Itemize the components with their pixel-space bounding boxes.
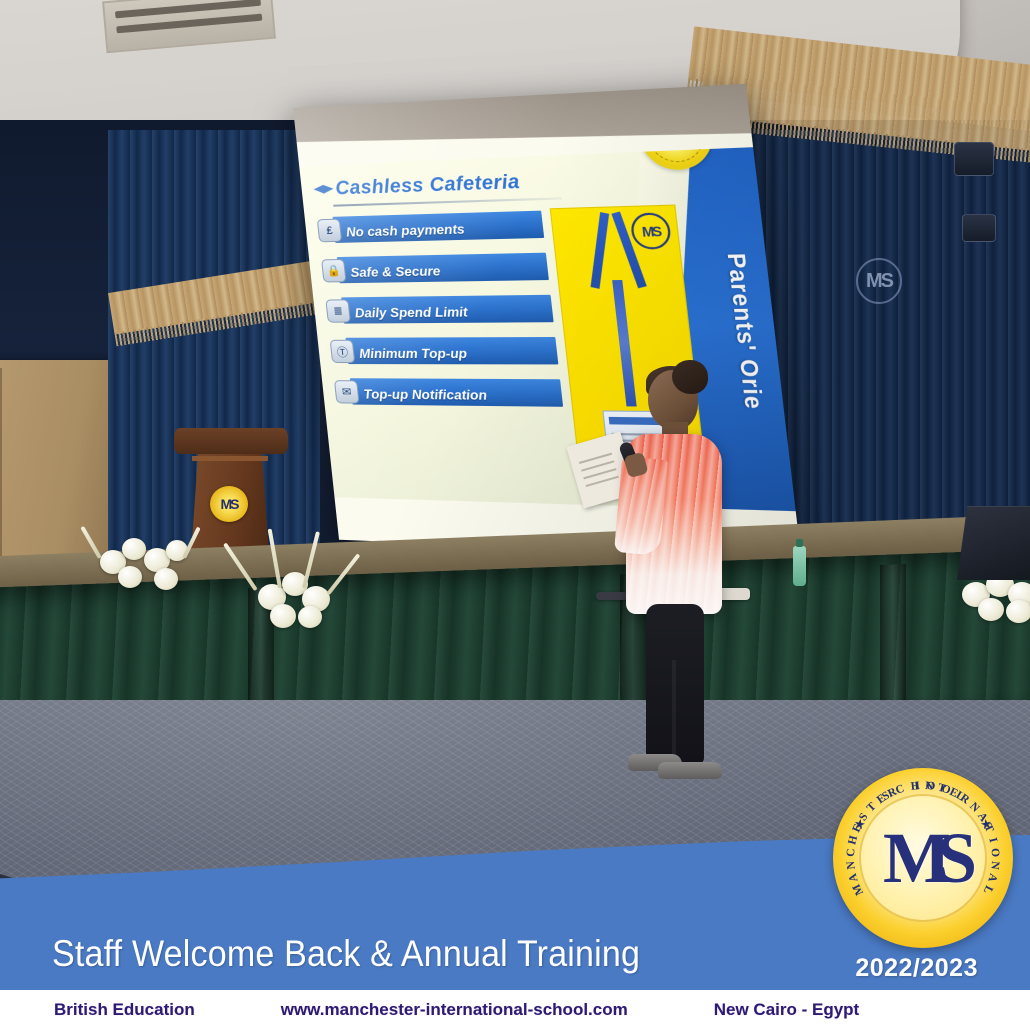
podium-trim xyxy=(192,456,268,461)
bullet-label: Minimum Top-up xyxy=(358,346,467,362)
stage-spotlight-icon xyxy=(954,142,994,176)
no-cash-icon: ₤ xyxy=(317,219,342,243)
flower-arrangement xyxy=(240,548,360,648)
bullet-label: No cash payments xyxy=(345,221,465,239)
notification-icon: ✉ xyxy=(334,380,360,403)
skirt-fold xyxy=(880,564,906,715)
lanyard-strap-left xyxy=(591,212,610,289)
slide-bullet-item: Ⓣ Minimum Top-up xyxy=(327,337,559,370)
footer-website-link[interactable]: www.manchester-international-school.com xyxy=(281,1000,628,1020)
dried-frond xyxy=(326,553,360,595)
presenter-hair-bun xyxy=(672,360,708,394)
water-bottle xyxy=(793,546,806,586)
slide-bullet-item: ✉ Top-up Notification xyxy=(332,378,564,412)
bullet-label: Top-up Notification xyxy=(363,386,488,402)
footer-location-label: New Cairo - Egypt xyxy=(714,1000,859,1020)
presenter xyxy=(620,366,730,786)
school-logo: MANCHESTERINTERNATIONALSCHOOL★★ MS xyxy=(833,768,1013,948)
slide-photo-seal-icon: MS xyxy=(629,212,672,249)
slide-bullet-list: ₤ No cash payments 🔒 Safe & Secure ≣ Dai… xyxy=(315,211,565,422)
bullet-label: Daily Spend Limit xyxy=(354,304,468,320)
wall-crest-icon: MS xyxy=(856,258,902,304)
stage-spotlight-icon xyxy=(962,214,996,242)
footer-left-label: British Education xyxy=(54,1000,195,1020)
school-event-photo: MS Parents' Orie MIS Cashless Cafeteria … xyxy=(0,0,1030,1030)
bullet-label: Safe & Secure xyxy=(350,263,441,280)
podium-top xyxy=(174,428,288,454)
slide-title: Cashless Cafeteria xyxy=(334,171,521,200)
slide-bullet-item: ≣ Daily Spend Limit xyxy=(323,295,554,329)
presenter-shoe xyxy=(658,762,722,779)
event-title: Staff Welcome Back & Annual Training xyxy=(52,933,640,975)
presenter-trousers xyxy=(646,604,704,764)
slide-bullet-item: ₤ No cash payments xyxy=(315,211,545,249)
top-up-icon: Ⓣ xyxy=(330,340,356,363)
spend-limit-icon: ≣ xyxy=(325,299,351,322)
podium-crest-icon: MS xyxy=(210,486,248,522)
lock-icon: 🔒 xyxy=(321,259,346,283)
stage-monitor-speaker xyxy=(957,506,1030,580)
academic-year: 2022/2023 xyxy=(855,954,978,983)
logo-monogram: MS xyxy=(833,768,1013,948)
flower-arrangement xyxy=(96,528,206,608)
graduation-cap-icon xyxy=(313,185,334,197)
slide-bullet-item: 🔒 Safe & Secure xyxy=(319,253,550,289)
footer-bar: British Education www.manchester-interna… xyxy=(0,990,1030,1030)
